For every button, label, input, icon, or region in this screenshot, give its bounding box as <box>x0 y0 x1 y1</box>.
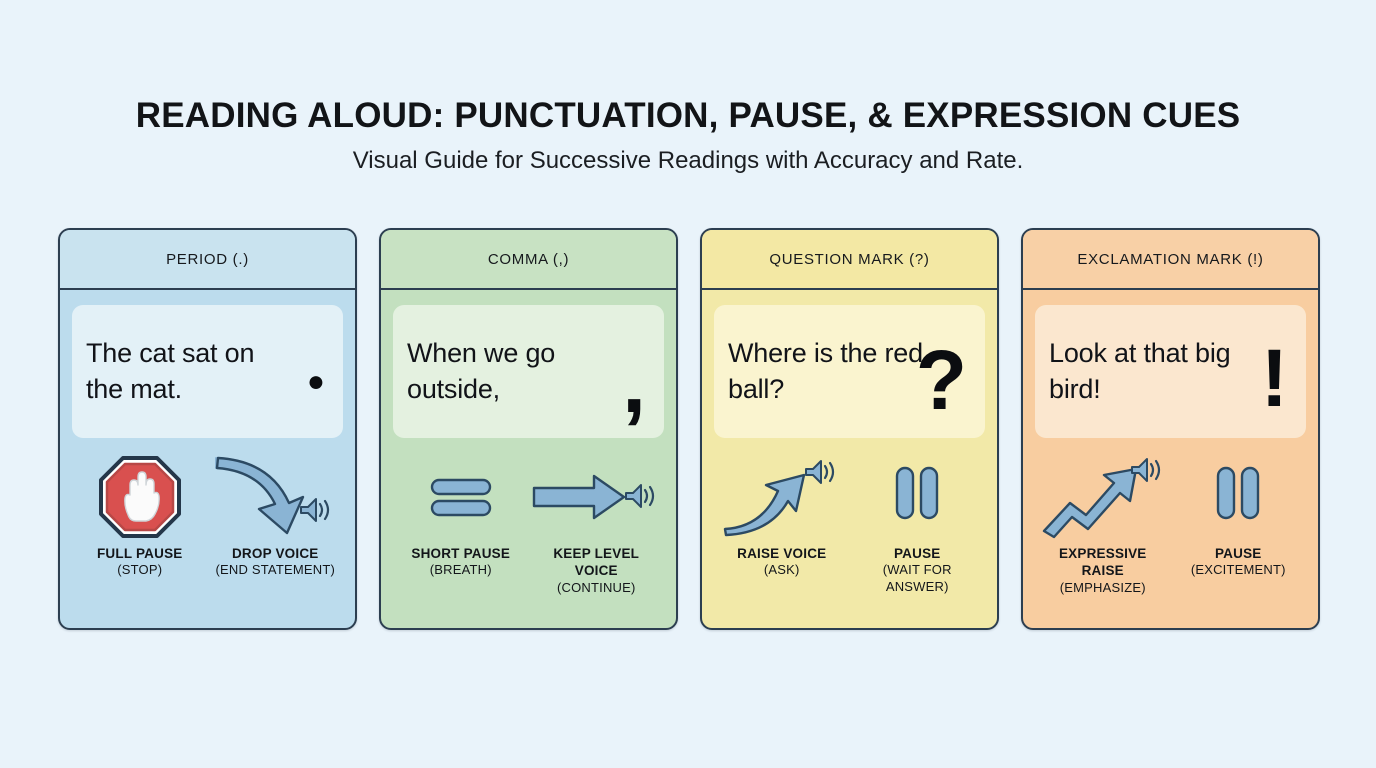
cue-label: EXPRESSIVE RAISE <box>1059 546 1147 578</box>
curved-down-arrow-speaker-icon <box>215 460 335 534</box>
cue-sublabel: (END STATEMENT) <box>215 562 335 579</box>
cue-curved-down-arrow-speaker: DROP VOICE (END STATEMENT) <box>212 460 339 579</box>
card-body-comma: When we go outside, , SHORT PAUSE (BREAT… <box>381 290 676 628</box>
card-title: PERIOD (.) <box>166 251 249 268</box>
card-header-exclamation: EXCLAMATION MARK (!) <box>1023 230 1318 290</box>
cue-label: KEEP LEVEL VOICE <box>553 546 639 578</box>
cue-rising-curved-arrow-speaker: RAISE VOICE (ASK) <box>718 460 845 579</box>
cue-row: SHORT PAUSE (BREATH) KEEP LEVEL VOICE (C… <box>393 438 664 620</box>
example-sentence: When we go outside, <box>407 336 612 406</box>
card-header-comma: COMMA (,) <box>381 230 676 290</box>
cue-row: EXPRESSIVE RAISE (EMPHASIZE) PAUSE (EXCI… <box>1035 438 1306 620</box>
card-question[interactable]: QUESTION MARK (?) Where is the red ball?… <box>700 228 999 630</box>
card-header-question: QUESTION MARK (?) <box>702 230 997 290</box>
cue-zigzag-rising-arrow-speaker: EXPRESSIVE RAISE (EMPHASIZE) <box>1039 460 1166 596</box>
card-title: COMMA (,) <box>488 251 569 268</box>
cue-row: FULL PAUSE (STOP) DROP VOICE (END STATEM… <box>72 438 343 620</box>
cue-caption: SHORT PAUSE (BREATH) <box>411 545 510 579</box>
cue-caption: KEEP LEVEL VOICE (CONTINUE) <box>533 545 660 596</box>
stop-sign-hand-icon <box>98 460 182 534</box>
zigzag-rising-arrow-speaker-icon <box>1040 460 1166 534</box>
punctuation-glyph: , <box>622 349 646 418</box>
cue-vertical-pause-bars: PAUSE (EXCITEMENT) <box>1175 460 1302 579</box>
card-comma[interactable]: COMMA (,) When we go outside, , SHORT PA… <box>379 228 678 630</box>
example-sentence: The cat sat on the mat. <box>86 336 291 406</box>
card-period[interactable]: PERIOD (.) The cat sat on the mat. ● FUL… <box>58 228 357 630</box>
cue-sublabel: (ASK) <box>737 562 826 579</box>
punctuation-glyph: ● <box>307 370 325 394</box>
card-body-exclamation: Look at that big bird! ! EXPRESSIVE RAIS… <box>1023 290 1318 628</box>
cue-label: RAISE VOICE <box>737 546 826 561</box>
cue-caption: EXPRESSIVE RAISE (EMPHASIZE) <box>1039 545 1166 596</box>
cue-two-horizontal-bars-pause: SHORT PAUSE (BREATH) <box>397 460 524 579</box>
cue-caption: RAISE VOICE (ASK) <box>737 545 826 579</box>
cue-sublabel: (CONTINUE) <box>533 580 660 597</box>
cue-sublabel: (WAIT FOR ANSWER) <box>854 562 981 595</box>
example-panel: Where is the red ball? ? <box>714 305 985 438</box>
card-title: QUESTION MARK (?) <box>769 251 929 268</box>
example-panel: Look at that big bird! ! <box>1035 305 1306 438</box>
two-horizontal-bars-pause-icon <box>424 460 498 534</box>
cue-label: DROP VOICE <box>232 546 319 561</box>
example-panel: The cat sat on the mat. ● <box>72 305 343 438</box>
cue-right-arrow-speaker: KEEP LEVEL VOICE (CONTINUE) <box>533 460 660 596</box>
cue-sublabel: (STOP) <box>97 562 183 579</box>
card-body-question: Where is the red ball? ? RAISE VOICE (AS… <box>702 290 997 628</box>
cue-sublabel: (EXCITEMENT) <box>1191 562 1286 579</box>
cue-stop-sign-hand: FULL PAUSE (STOP) <box>76 460 203 579</box>
cue-sublabel: (EMPHASIZE) <box>1039 580 1166 597</box>
cue-sublabel: (BREATH) <box>411 562 510 579</box>
punctuation-glyph: ? <box>916 347 967 414</box>
cue-label: PAUSE <box>894 546 941 561</box>
cue-caption: FULL PAUSE (STOP) <box>97 545 183 579</box>
example-panel: When we go outside, , <box>393 305 664 438</box>
example-sentence: Where is the red ball? <box>728 336 933 406</box>
cue-caption: PAUSE (WAIT FOR ANSWER) <box>854 545 981 596</box>
vertical-pause-bars-icon <box>1208 460 1268 534</box>
cue-row: RAISE VOICE (ASK) PAUSE (WAIT FOR ANSWER… <box>714 438 985 620</box>
header-block: READING ALOUD: PUNCTUATION, PAUSE, & EXP… <box>0 96 1376 175</box>
example-sentence: Look at that big bird! <box>1049 336 1254 406</box>
card-header-period: PERIOD (.) <box>60 230 355 290</box>
cue-caption: PAUSE (EXCITEMENT) <box>1191 545 1286 579</box>
punctuation-card-row: PERIOD (.) The cat sat on the mat. ● FUL… <box>58 228 1320 630</box>
punctuation-glyph: ! <box>1261 346 1288 412</box>
vertical-pause-bars-icon <box>887 460 947 534</box>
card-title: EXCLAMATION MARK (!) <box>1077 251 1263 268</box>
page-title: READING ALOUD: PUNCTUATION, PAUSE, & EXP… <box>0 96 1376 136</box>
cue-label: PAUSE <box>1215 546 1262 561</box>
cue-vertical-pause-bars: PAUSE (WAIT FOR ANSWER) <box>854 460 981 596</box>
rising-curved-arrow-speaker-icon <box>722 460 842 534</box>
cue-label: FULL PAUSE <box>97 546 183 561</box>
infographic-canvas: READING ALOUD: PUNCTUATION, PAUSE, & EXP… <box>0 0 1376 768</box>
card-exclamation[interactable]: EXCLAMATION MARK (!) Look at that big bi… <box>1021 228 1320 630</box>
card-body-period: The cat sat on the mat. ● FULL PAUSE (ST… <box>60 290 355 628</box>
page-subtitle: Visual Guide for Successive Readings wit… <box>0 147 1376 175</box>
right-arrow-speaker-icon <box>532 460 660 534</box>
cue-caption: DROP VOICE (END STATEMENT) <box>215 545 335 579</box>
cue-label: SHORT PAUSE <box>411 546 510 561</box>
